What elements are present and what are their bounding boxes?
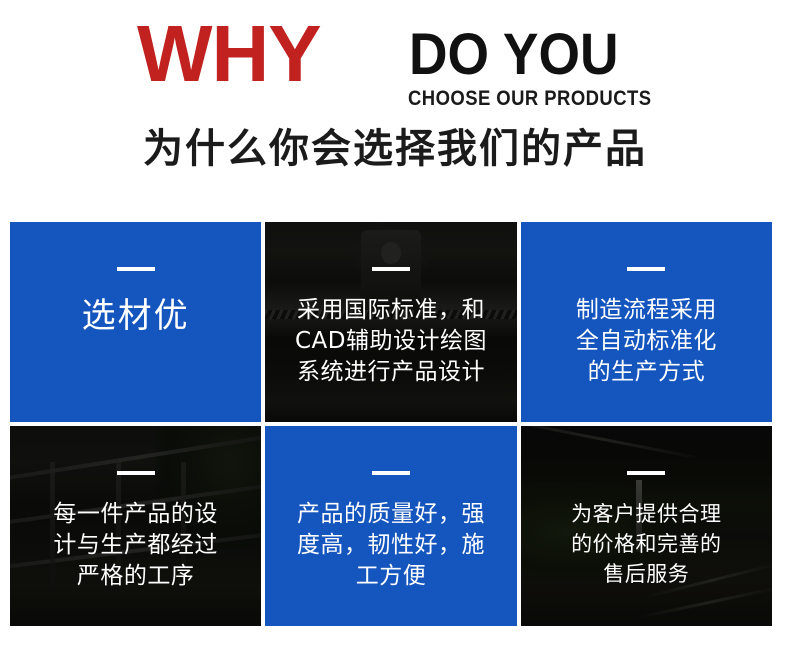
feature-text: 产品的质量好，强 度高，韧性好，施 工方便: [297, 499, 485, 592]
dash-divider-icon: [372, 471, 410, 475]
dash-divider-icon: [372, 267, 410, 271]
dash-divider-icon: [627, 471, 665, 475]
feature-text: 制造流程采用 全自动标准化 的生产方式: [576, 295, 717, 388]
feature-grid: 选材优 采用国际标准，和 CAD辅助设计绘图 系统进行产品设计 制造流程采用 全…: [10, 222, 772, 634]
dash-divider-icon: [117, 267, 155, 271]
cell-content: 为客户提供合理 的价格和完善的 售后服务: [521, 426, 772, 626]
feature-cell-service[interactable]: 为客户提供合理 的价格和完善的 售后服务: [521, 426, 772, 626]
dash-divider-icon: [627, 267, 665, 271]
feature-cell-standard[interactable]: 采用国际标准，和 CAD辅助设计绘图 系统进行产品设计: [265, 222, 516, 422]
headline-block: WHY DO YOU: [0, 14, 790, 96]
cell-content: 每一件产品的设 计与生产都经过 严格的工序: [10, 426, 261, 626]
headline-inner: WHY DO YOU: [137, 14, 673, 96]
dash-divider-icon: [117, 471, 155, 475]
page-header: WHY DO YOU CHOOSE OUR PRODUCTS 为什么你会选择我们…: [0, 0, 790, 200]
headline-word-doyou: DO YOU: [409, 26, 619, 84]
feature-text: 选材优: [82, 295, 190, 337]
feature-text: 采用国际标准，和 CAD辅助设计绘图 系统进行产品设计: [295, 295, 487, 388]
headline-word-why: WHY: [137, 14, 321, 94]
cell-content: 采用国际标准，和 CAD辅助设计绘图 系统进行产品设计: [265, 222, 516, 422]
headline-subtitle-chinese: 为什么你会选择我们的产品: [0, 125, 790, 173]
cell-content: 选材优: [10, 222, 261, 422]
cell-content: 产品的质量好，强 度高，韧性好，施 工方便: [265, 426, 516, 626]
headline-subtitle-english: CHOOSE OUR PRODUCTS: [408, 88, 651, 110]
feature-text: 为客户提供合理 的价格和完善的 售后服务: [571, 499, 722, 589]
feature-cell-quality-control[interactable]: 每一件产品的设 计与生产都经过 严格的工序: [10, 426, 261, 626]
feature-text: 每一件产品的设 计与生产都经过 严格的工序: [53, 499, 218, 592]
feature-cell-material[interactable]: 选材优: [10, 222, 261, 422]
cell-content: 制造流程采用 全自动标准化 的生产方式: [521, 222, 772, 422]
feature-cell-process[interactable]: 制造流程采用 全自动标准化 的生产方式: [521, 222, 772, 422]
feature-cell-product-quality[interactable]: 产品的质量好，强 度高，韧性好，施 工方便: [265, 426, 516, 626]
